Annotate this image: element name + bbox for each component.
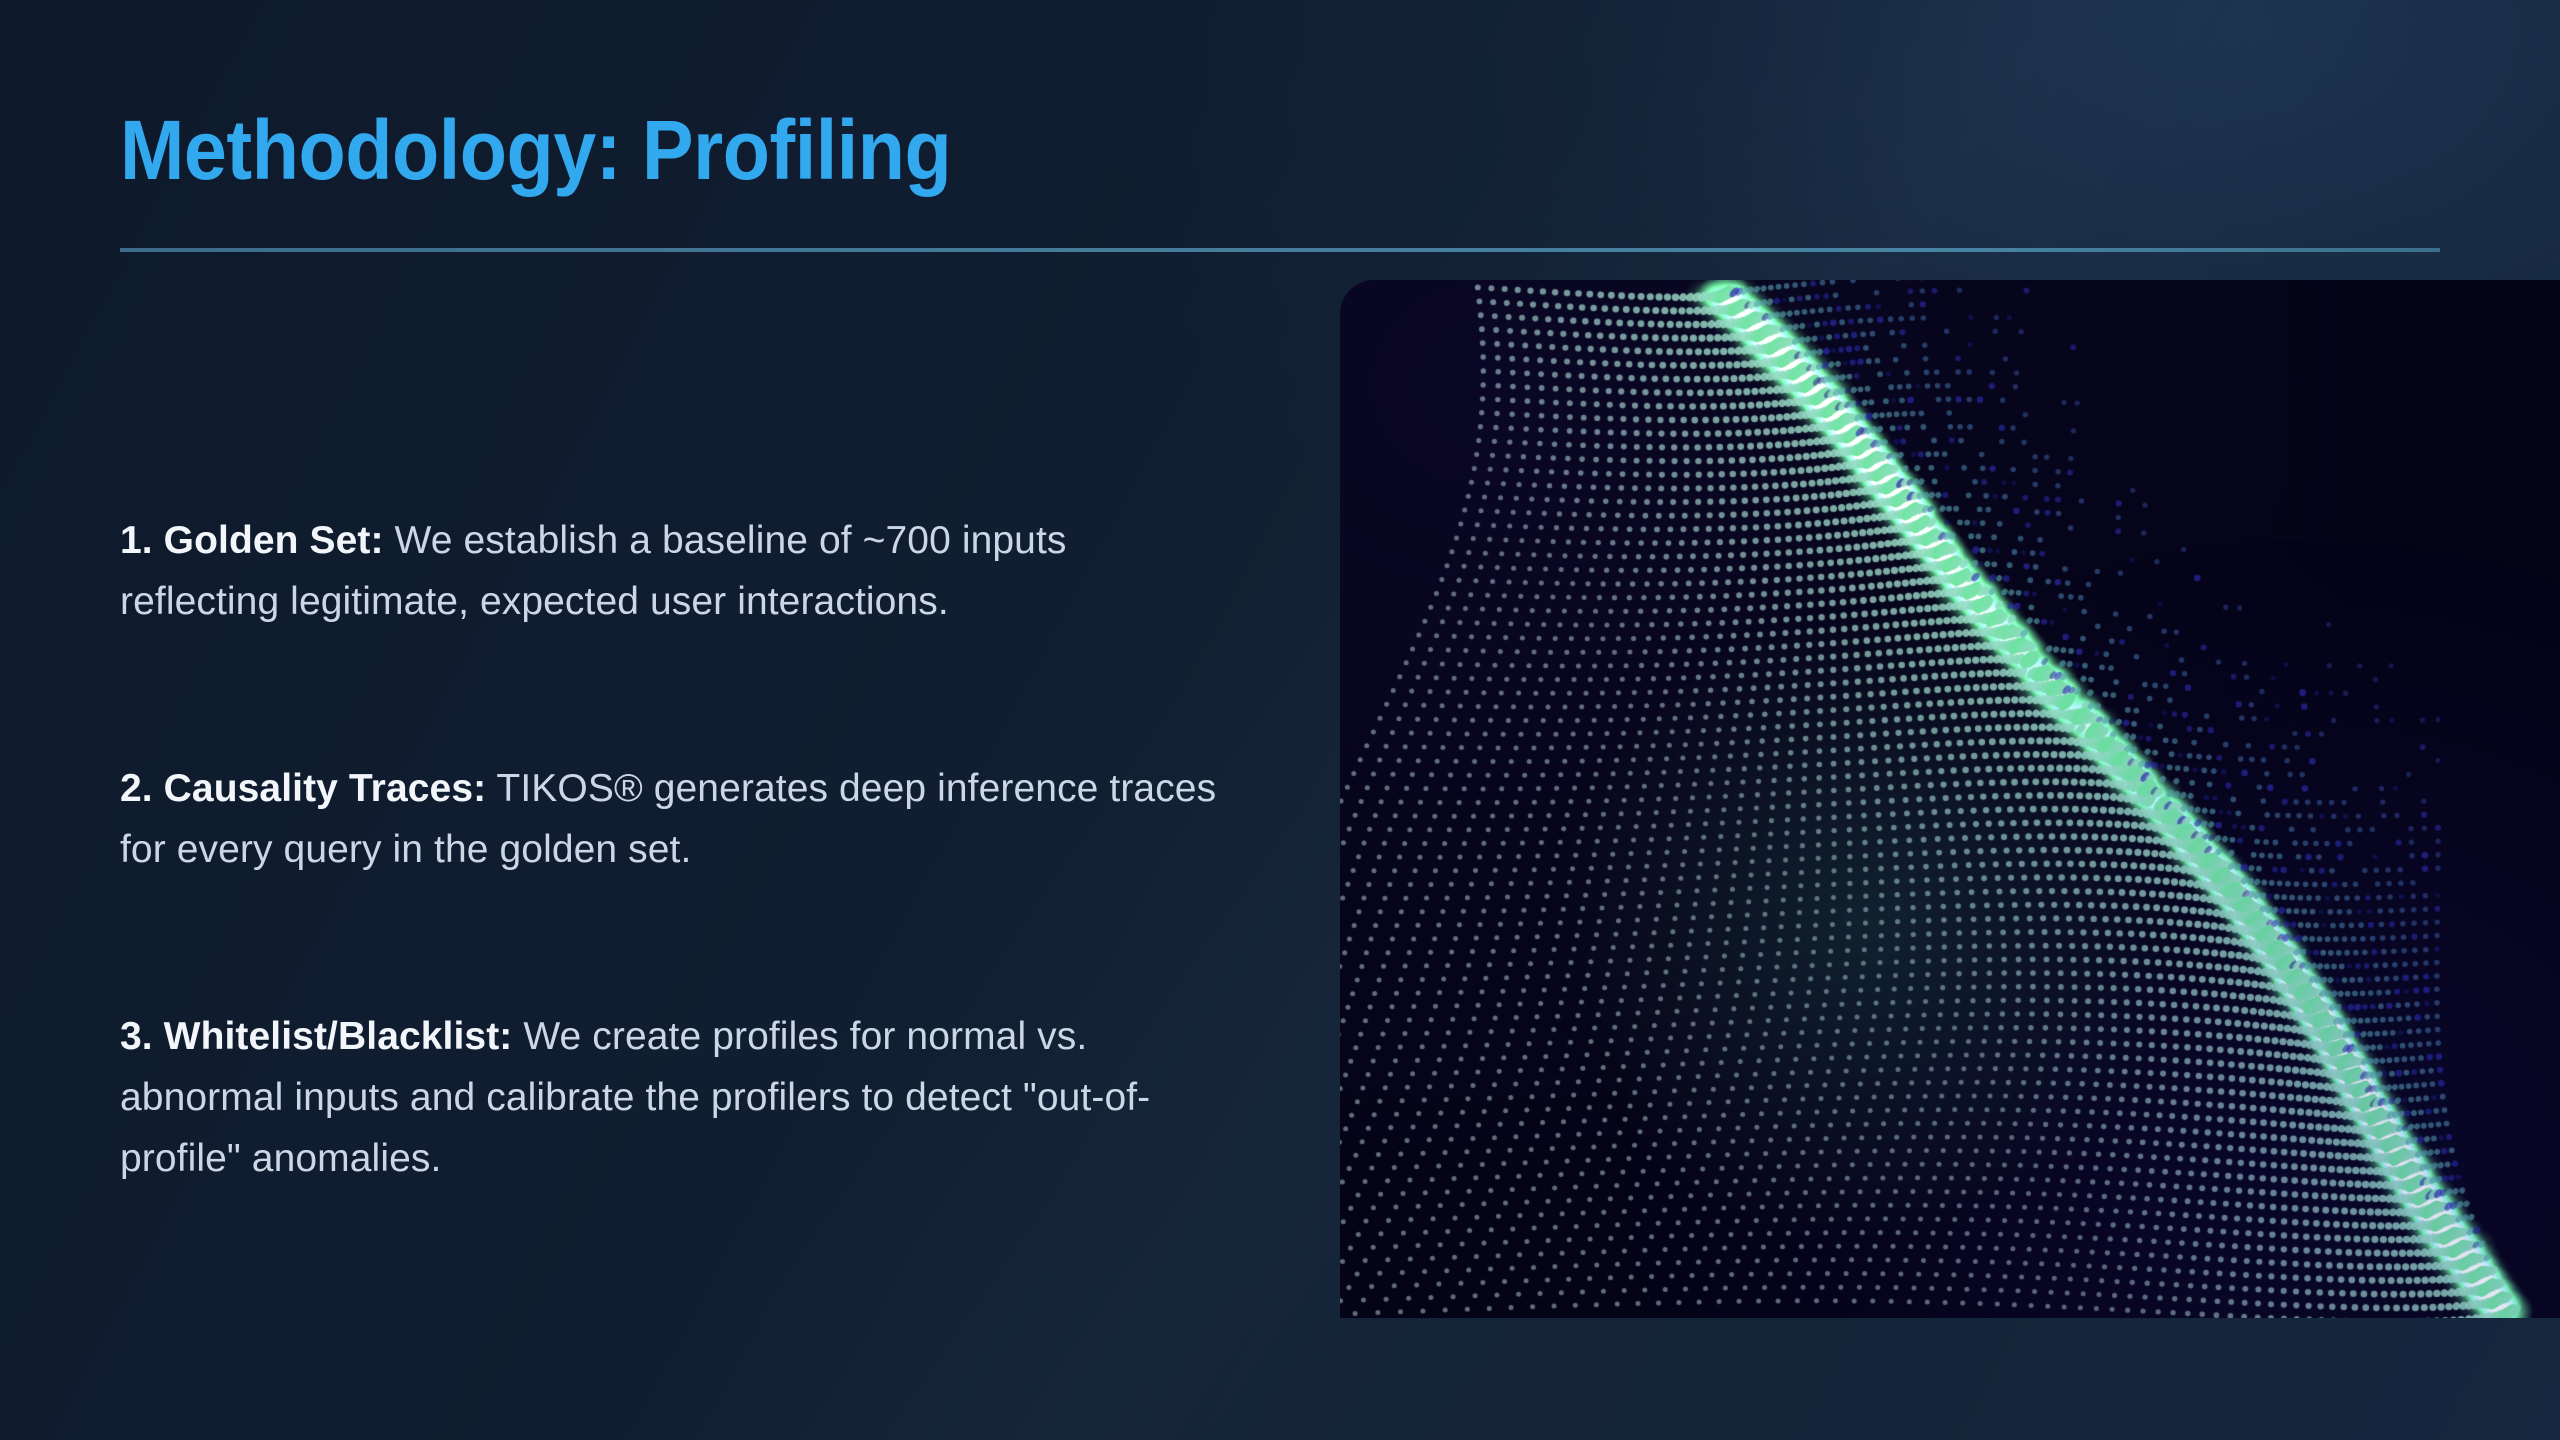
page-title: Methodology: Profiling [120,108,2264,192]
list-item: 3. Whitelist/Blacklist: We create profil… [120,1006,1230,1189]
list-item-lead: 3. Whitelist/Blacklist: [120,1015,512,1058]
list-item-lead: 2. Causality Traces: [120,767,486,810]
title-block: Methodology: Profiling [120,108,2450,192]
particle-visualization-panel [1340,280,2560,1318]
particle-dot-field-canvas [1340,280,2560,1318]
slide-root: Methodology: Profiling 1. Golden Set: We… [0,0,2560,1440]
list-item: 1. Golden Set: We establish a baseline o… [120,510,1230,632]
title-divider [120,248,2440,252]
list-item: 2. Causality Traces: TIKOS® generates de… [120,758,1230,880]
methodology-list: 1. Golden Set: We establish a baseline o… [120,510,1230,1189]
list-item-lead: 1. Golden Set: [120,519,384,562]
